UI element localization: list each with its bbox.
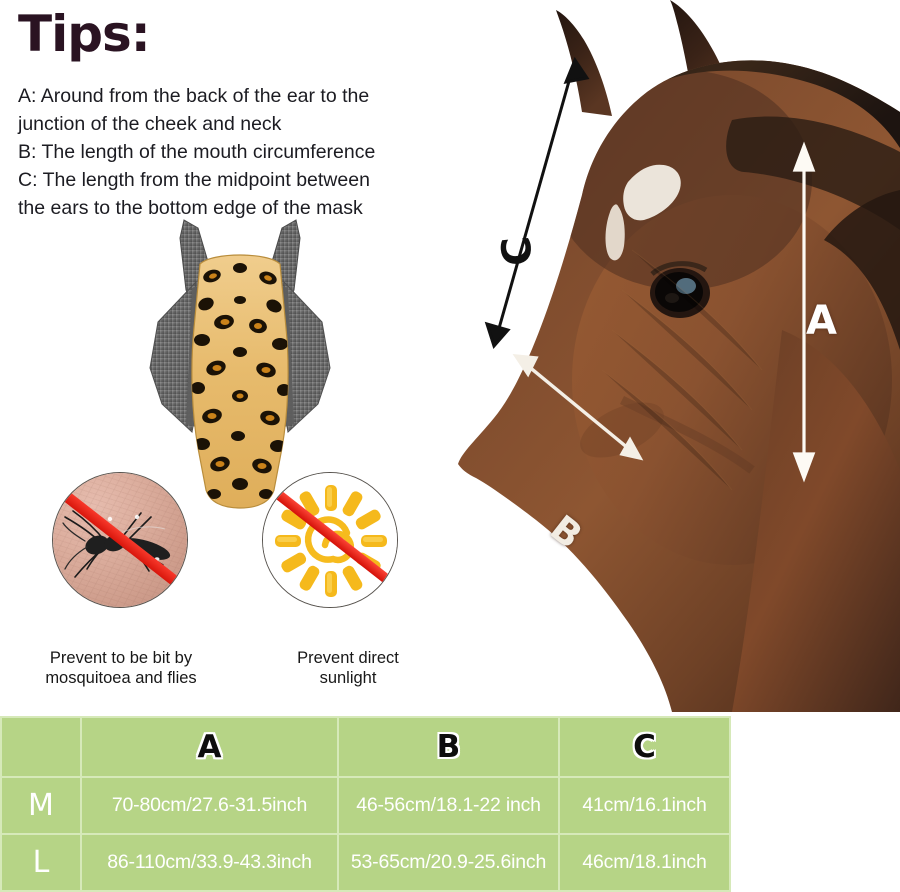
tips-description: A: Around from the back of the ear to th… <box>18 82 438 222</box>
table-row: M 70-80cm/27.6-31.5inch 46-56cm/18.1-22 … <box>1 777 730 834</box>
benefit-sunlight <box>262 472 398 608</box>
size-chart-table: A B C M 70-80cm/27.6-31.5inch 46-56cm/18… <box>0 716 721 888</box>
size-label: M <box>1 777 81 834</box>
caption-line: Prevent direct <box>297 649 399 667</box>
tips-line: A: Around from the back of the ear to th… <box>18 82 438 110</box>
table-header-a: A <box>81 717 338 777</box>
sun-icon <box>262 472 398 608</box>
page-title: Tips: <box>18 8 150 60</box>
caption-line: sunlight <box>320 669 377 687</box>
table-corner-cell <box>1 717 81 777</box>
horse-measurement-photo <box>432 0 900 712</box>
table-header-c: C <box>559 717 730 777</box>
fly-mask-illustration <box>140 218 340 514</box>
horse-head <box>432 0 900 712</box>
benefit-mosquito <box>52 472 188 608</box>
cell-a: 70-80cm/27.6-31.5inch <box>81 777 338 834</box>
cell-b: 46-56cm/18.1-22 inch <box>338 777 559 834</box>
cell-c: 41cm/16.1inch <box>559 777 730 834</box>
horse-nostril <box>475 545 561 622</box>
cell-b: 53-65cm/20.9-25.6inch <box>338 834 559 891</box>
table-header-b: B <box>338 717 559 777</box>
caption-line: Prevent to be bit by <box>50 649 192 667</box>
cell-a: 86-110cm/33.9-43.3inch <box>81 834 338 891</box>
benefit-mosquito-caption: Prevent to be bit by mosquitoea and flie… <box>12 648 230 688</box>
mask-face-panel <box>191 255 291 508</box>
table-header-row: A B C <box>1 717 730 777</box>
size-label: L <box>1 834 81 891</box>
tips-line: B: The length of the mouth circumference <box>18 138 438 166</box>
caption-line: mosquitoea and flies <box>45 669 196 687</box>
mosquito-icon <box>52 472 188 608</box>
cell-c: 46cm/18.1inch <box>559 834 730 891</box>
tips-line: junction of the cheek and neck <box>18 110 438 138</box>
tips-line: C: The length from the midpoint between <box>18 166 438 194</box>
infographic-canvas: Tips: A: Around from the back of the ear… <box>0 0 900 891</box>
benefit-sunlight-caption: Prevent direct sunlight <box>258 648 438 688</box>
table-row: L 86-110cm/33.9-43.3inch 53-65cm/20.9-25… <box>1 834 730 891</box>
